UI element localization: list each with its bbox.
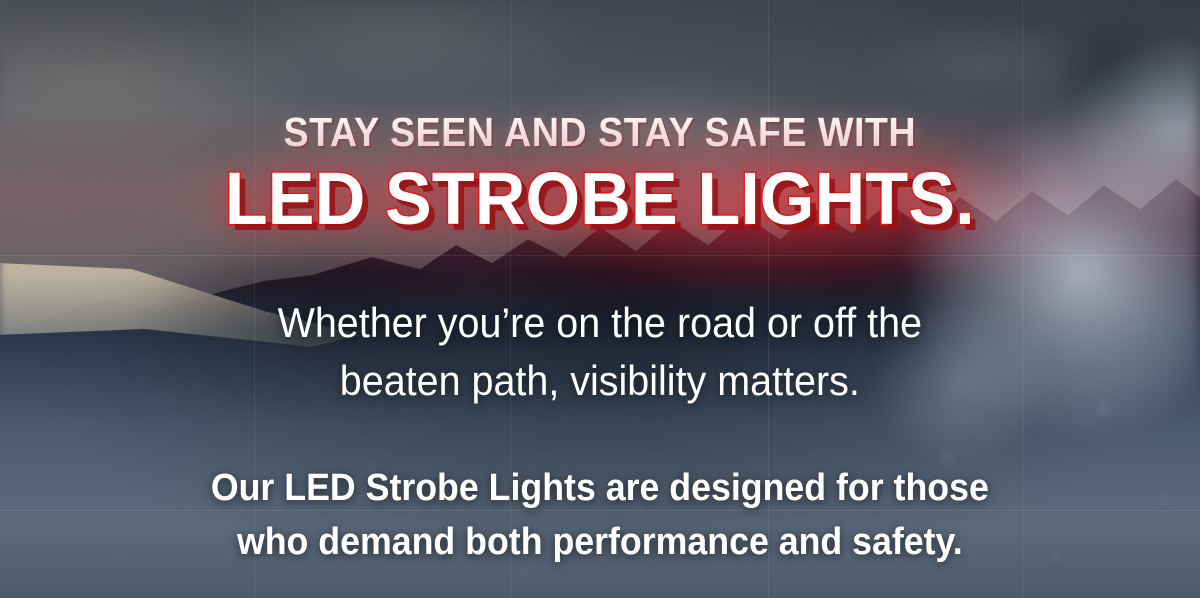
hero-headline: LED STROBE LIGHTS. — [225, 162, 975, 236]
hero-subheading-line-1: Whether you’re on the road or off the — [278, 294, 923, 352]
hero-subheading: Whether you’re on the road or off the be… — [278, 294, 923, 410]
hero-eyebrow: STAY SEEN AND STAY SAFE WITH — [284, 112, 917, 153]
hero-content: STAY SEEN AND STAY SAFE WITH LED STROBE … — [0, 0, 1200, 598]
hero-subheading-line-2: beaten path, visibility matters. — [278, 352, 923, 410]
hero-banner: STAY SEEN AND STAY SAFE WITH LED STROBE … — [0, 0, 1200, 598]
hero-lede-line-2: who demand both performance and safety. — [211, 516, 989, 570]
hero-lede: Our LED Strobe Lights are designed for t… — [211, 462, 989, 570]
hero-lede-line-1: Our LED Strobe Lights are designed for t… — [211, 462, 989, 516]
